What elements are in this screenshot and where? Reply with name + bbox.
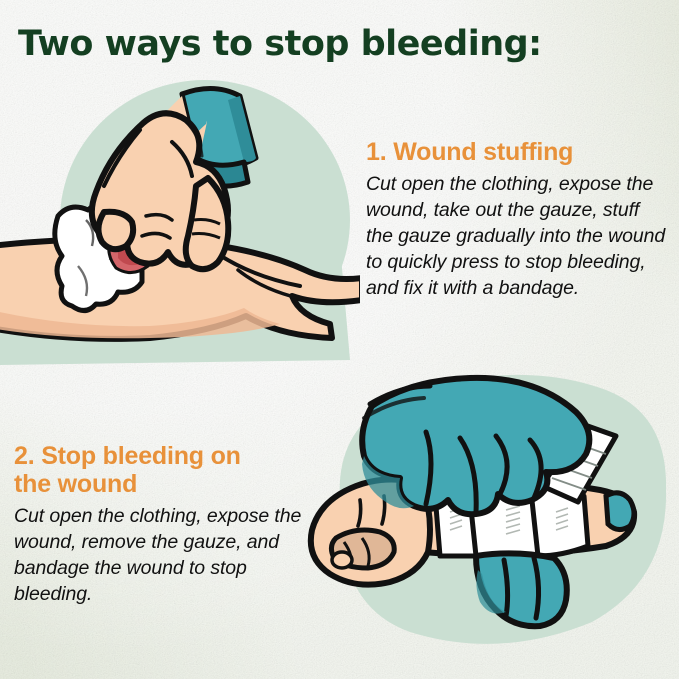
section-1-heading: 1. Wound stuffing — [366, 138, 666, 166]
page-title: Two ways to stop bleeding: — [18, 24, 542, 64]
section-2-heading: 2. Stop bleeding on the wound — [14, 442, 284, 498]
section-2-body: Cut open the clothing, expose the wound,… — [14, 504, 314, 608]
illustration-wound-stuffing — [0, 70, 360, 380]
illustration-bandaging-wound — [300, 360, 679, 660]
infographic-poster: Two ways to stop bleeding: 1. Wound stuf… — [0, 0, 679, 679]
section-1-body: Cut open the clothing, expose the wound,… — [366, 172, 666, 302]
